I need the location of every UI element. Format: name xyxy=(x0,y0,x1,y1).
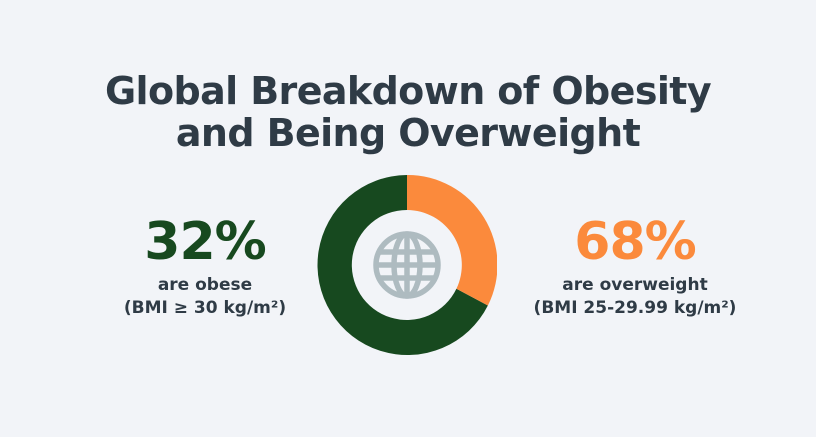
stat-sublabel-overweight: (BMI 25-29.99 kg/m²) xyxy=(485,297,785,320)
stat-value-obese: 32% xyxy=(55,214,355,270)
globe-icon xyxy=(372,230,442,300)
stat-block-overweight: 68% are overweight (BMI 25-29.99 kg/m²) xyxy=(485,214,785,320)
stat-block-obese: 32% are obese (BMI ≥ 30 kg/m²) xyxy=(55,214,355,320)
globe-icon-svg xyxy=(372,230,442,300)
stat-label-obese: are obese xyxy=(55,274,355,297)
stat-value-overweight: 68% xyxy=(485,214,785,270)
infographic-canvas: Global Breakdown of Obesity and Being Ov… xyxy=(0,0,816,437)
stat-sublabel-obese: (BMI ≥ 30 kg/m²) xyxy=(55,297,355,320)
stat-label-overweight: are overweight xyxy=(485,274,785,297)
page-title-line-1: Global Breakdown of Obesity xyxy=(0,70,816,112)
page-title: Global Breakdown of Obesity and Being Ov… xyxy=(0,70,816,154)
page-title-line-2: and Being Overweight xyxy=(0,112,816,154)
